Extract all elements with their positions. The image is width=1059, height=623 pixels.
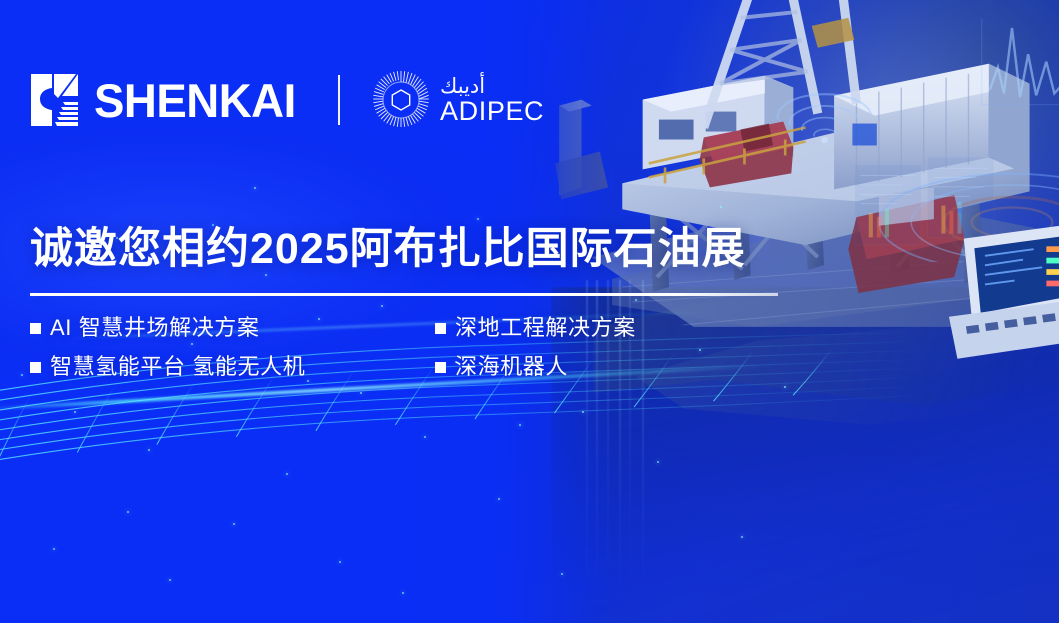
shenkai-logo-mark-icon — [28, 72, 80, 128]
adipec-starburst-icon — [370, 69, 432, 131]
feature-item: 深海机器人 — [435, 353, 730, 381]
feature-row: AI 智慧井场解决方案 深地工程解决方案 — [30, 314, 730, 342]
feature-label: 智慧氢能平台 氢能无人机 — [50, 353, 305, 381]
feature-row: 智慧氢能平台 氢能无人机 深海机器人 — [30, 353, 730, 381]
feature-list: AI 智慧井场解决方案 深地工程解决方案 智慧氢能平台 氢能无人机 深海机器人 — [30, 314, 730, 391]
square-bullet-icon — [30, 362, 41, 373]
feature-item: AI 智慧井场解决方案 — [30, 314, 435, 342]
feature-item: 深地工程解决方案 — [435, 314, 730, 342]
adipec-logo: أديبك ADIPEC — [370, 69, 544, 131]
feature-label: 深地工程解决方案 — [455, 314, 636, 342]
adipec-name-latin: ADIPEC — [440, 98, 544, 125]
square-bullet-icon — [30, 323, 41, 334]
logo-row: SHENKAI — [28, 62, 544, 138]
promotional-banner: SHENKAI — [0, 0, 1059, 623]
page-title: 诚邀您相约2025阿布扎比国际石油展 — [30, 226, 746, 273]
square-bullet-icon — [435, 362, 446, 373]
feature-label: 深海机器人 — [455, 353, 568, 381]
feature-label: AI 智慧井场解决方案 — [50, 314, 260, 342]
logo-divider — [338, 75, 340, 125]
title-divider-rule — [30, 293, 778, 296]
square-bullet-icon — [435, 323, 446, 334]
shenkai-wordmark: SHENKAI — [94, 77, 296, 124]
adipec-name-arabic: أديبك — [440, 76, 485, 97]
feature-item: 智慧氢能平台 氢能无人机 — [30, 353, 435, 381]
